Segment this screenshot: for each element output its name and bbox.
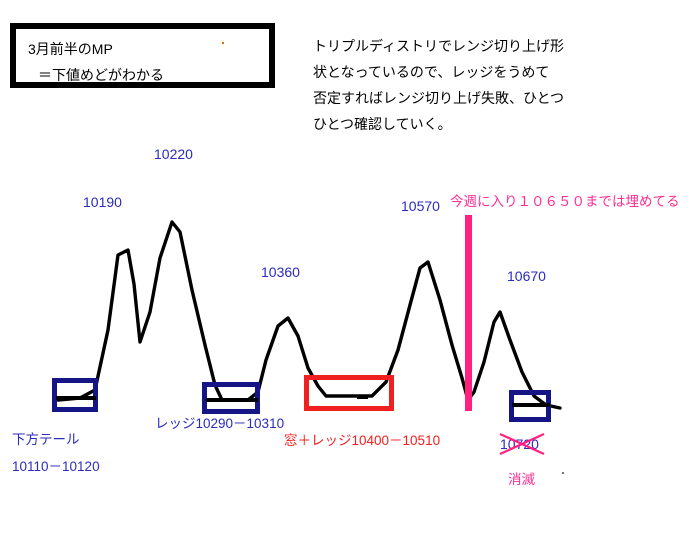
disappeared-label: 消滅	[508, 468, 535, 488]
lower-tail-box	[52, 378, 98, 412]
marker-headline-label: 今週に入り１０６５０までは埋めてる	[450, 190, 680, 210]
price-curve-svg	[0, 170, 691, 500]
commentary-line-4: ひとつ確認していく。	[313, 111, 643, 137]
struck-price-label: 10720	[500, 436, 539, 454]
price-chart: 1019010220103601057010670	[0, 170, 691, 500]
ink-dot-artifact	[222, 42, 224, 44]
right-ledge-inner-line	[512, 403, 550, 407]
commentary-line-1: トリプルディストリでレンジ切り上げ形	[313, 33, 643, 59]
note-line-primary: 3月前半のMP	[28, 41, 113, 57]
marker-line-10650	[465, 215, 472, 411]
note-box: 3月前半のMP ＝下値めどがわかる	[10, 23, 275, 88]
peak-label-10360: 10360	[261, 264, 300, 280]
window-ledge-range-label: 窓＋レッジ10400－10510	[284, 429, 440, 449]
peak-label-10220: 10220	[154, 146, 193, 162]
peak-label-10570: 10570	[401, 198, 440, 214]
window-ledge-box	[304, 375, 394, 411]
lower-tail-inner-line	[56, 396, 96, 400]
cross-out-icon	[496, 431, 552, 457]
commentary-text: トリプルディストリでレンジ切り上げ形 状となっているので、レッジをうめて 否定す…	[313, 33, 643, 137]
annotated-chart-canvas: 3月前半のMP ＝下値めどがわかる トリプルディストリでレンジ切り上げ形 状とな…	[0, 0, 691, 560]
commentary-line-3: 否定すればレンジ切り上げ失敗、ひとつ	[313, 85, 643, 111]
mid-ledge-inner-line	[206, 398, 258, 402]
peak-label-10190: 10190	[83, 194, 122, 210]
window-ledge-inner-tick	[357, 395, 368, 399]
note-line-secondary: ＝下値めどがわかる	[38, 67, 164, 83]
peak-label-10670: 10670	[507, 268, 546, 284]
lower-tail-range-label: 10110－10120	[12, 455, 100, 475]
ink-dot-artifact-2	[562, 472, 564, 474]
commentary-line-2: 状となっているので、レッジをうめて	[313, 59, 643, 85]
lower-tail-title-label: 下方テール	[12, 428, 80, 448]
mid-ledge-range-label: レッジ10290－10310	[155, 412, 284, 432]
